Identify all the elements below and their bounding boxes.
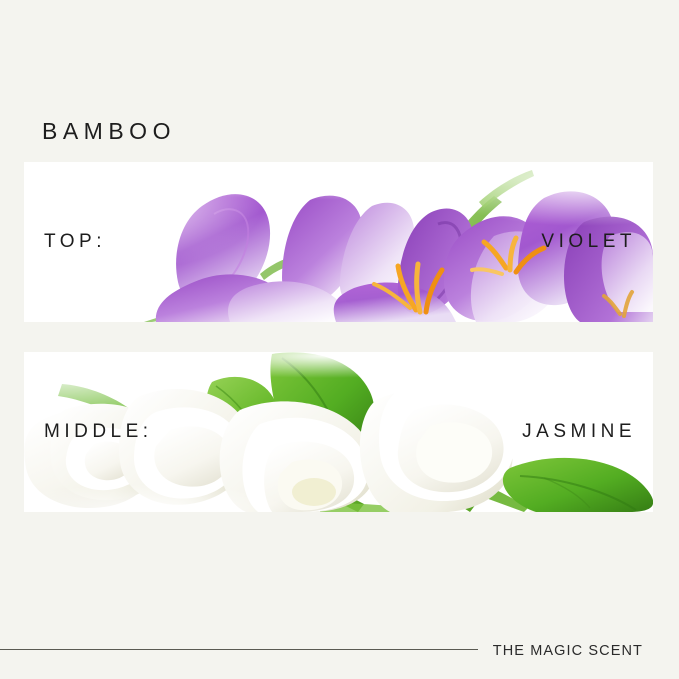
note-banner-top: TOP: VIOLET [24,162,653,322]
poster-canvas: BAMBOO [0,0,679,679]
brand-name: THE MAGIC SCENT [493,643,643,659]
note-value-middle: JASMINE [522,421,636,443]
footer-divider [0,649,478,650]
note-banner-middle: MIDDLE: JASMINE [24,352,653,512]
page-title: BAMBOO [42,118,176,145]
note-label-middle: MIDDLE: [44,421,153,443]
note-value-top: VIOLET [541,231,636,253]
note-label-top: TOP: [44,231,106,253]
